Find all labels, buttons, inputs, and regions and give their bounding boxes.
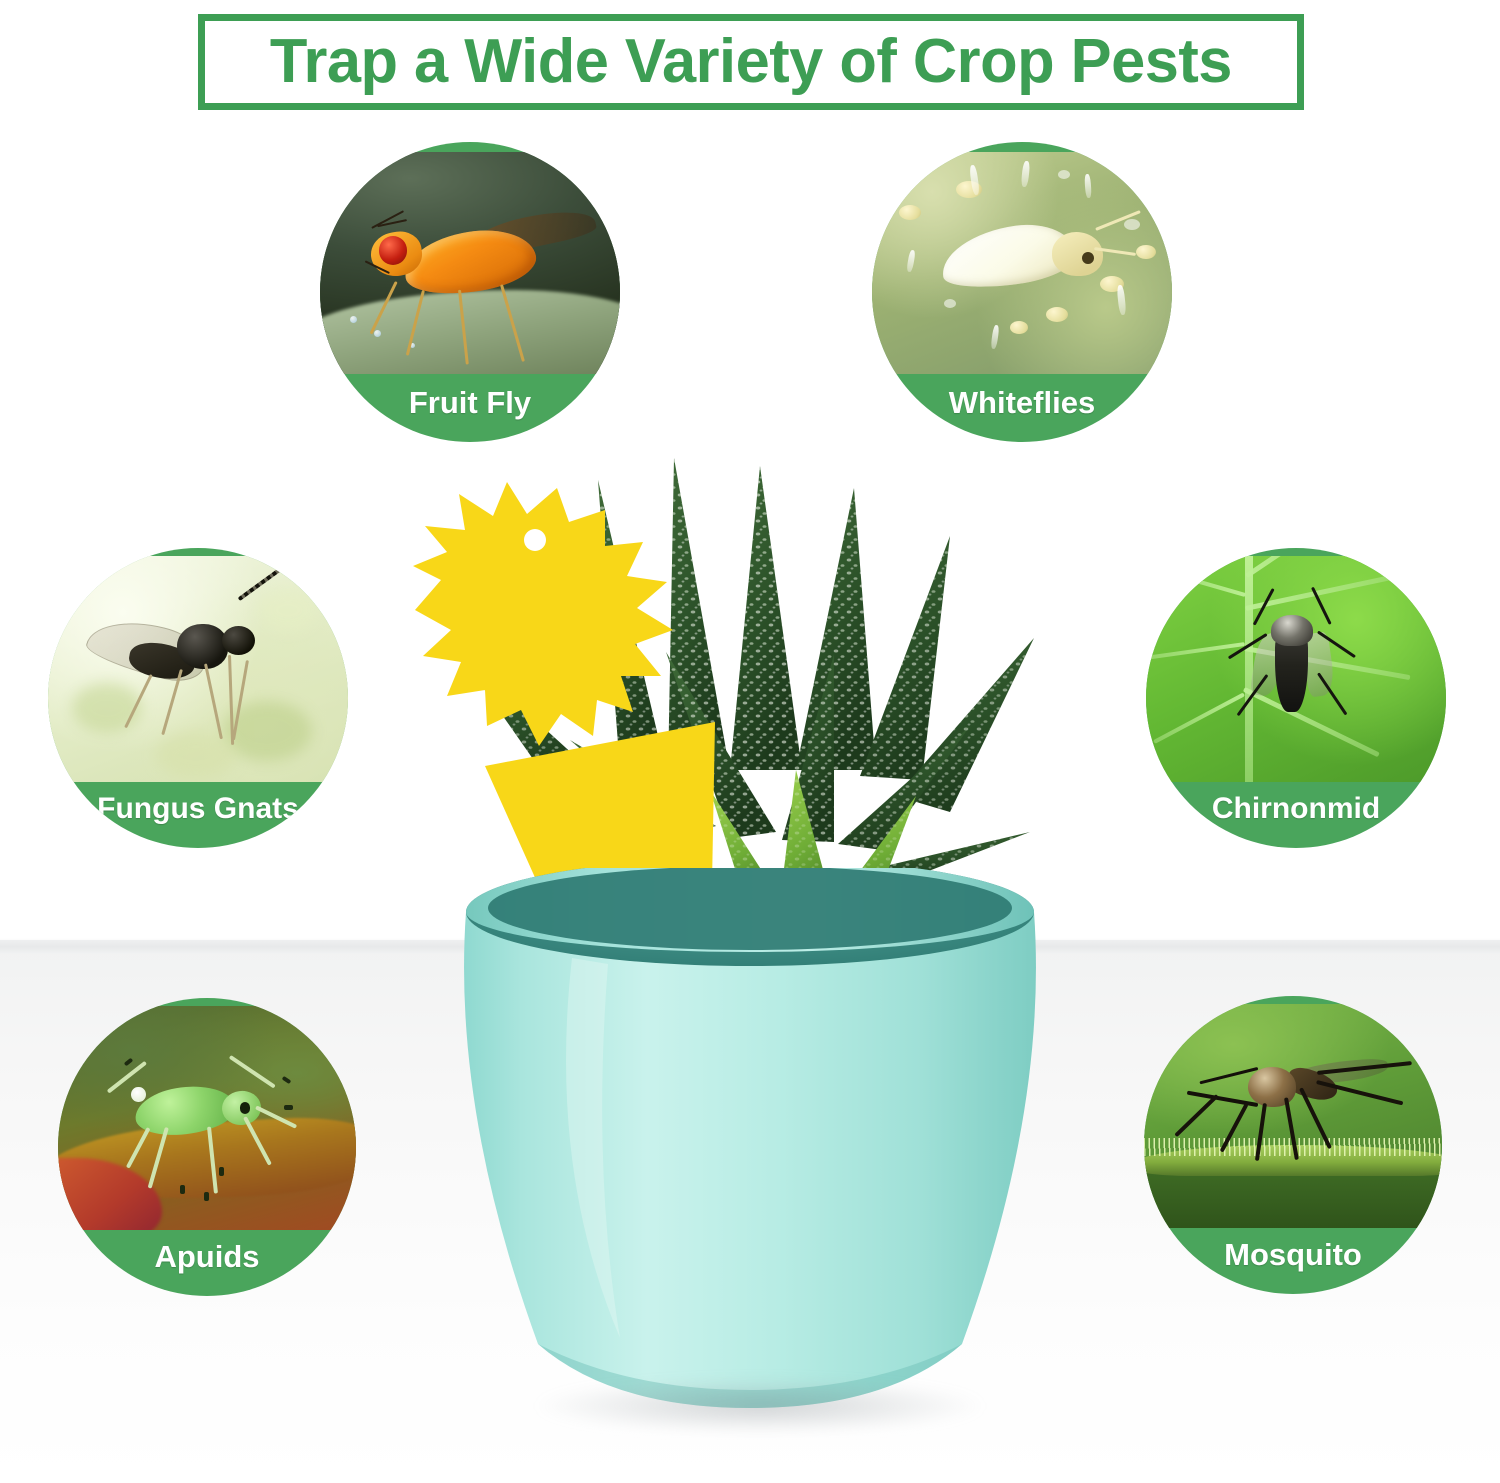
pest-label-fruit-fly: Fruit Fly	[320, 364, 620, 442]
sunburst-trap	[413, 482, 673, 746]
title-banner: Trap a Wide Variety of Crop Pests	[198, 14, 1304, 110]
pot-body	[464, 912, 1036, 1408]
pest-label-mosquito: Mosquito	[1144, 1217, 1442, 1294]
pest-circle-chirnonmid[interactable]: Chirnonmid	[1146, 548, 1446, 848]
pot-svg	[452, 868, 1048, 1428]
pest-trap-infographic: Trap a Wide Variety of Crop Pests	[0, 0, 1500, 1483]
pest-circle-apuids[interactable]: Apuids	[58, 998, 356, 1296]
pest-photo-apuids	[58, 1006, 356, 1230]
pest-photo-chirnonmid	[1146, 556, 1446, 782]
pest-photo-mosquito	[1144, 1004, 1442, 1228]
pest-label-whiteflies: Whiteflies	[872, 364, 1172, 442]
pest-photo-whiteflies	[872, 152, 1172, 374]
pest-label-fungus-gnats: Fungus Gnats	[48, 770, 348, 848]
pest-photo-fungus-gnats	[48, 556, 348, 782]
pest-label-apuids: Apuids	[58, 1219, 356, 1296]
pest-circle-whiteflies[interactable]: Whiteflies	[872, 142, 1172, 442]
pest-circle-fungus-gnats[interactable]: Fungus Gnats	[48, 548, 348, 848]
plant-pot	[452, 868, 1048, 1428]
pest-photo-fruit-fly	[320, 152, 620, 374]
pot-shadow	[470, 1370, 1050, 1442]
pest-label-chirnonmid: Chirnonmid	[1146, 770, 1446, 848]
pest-circle-mosquito[interactable]: Mosquito	[1144, 996, 1442, 1294]
page-title: Trap a Wide Variety of Crop Pests	[270, 31, 1232, 93]
pest-circle-fruit-fly[interactable]: Fruit Fly	[320, 142, 620, 442]
